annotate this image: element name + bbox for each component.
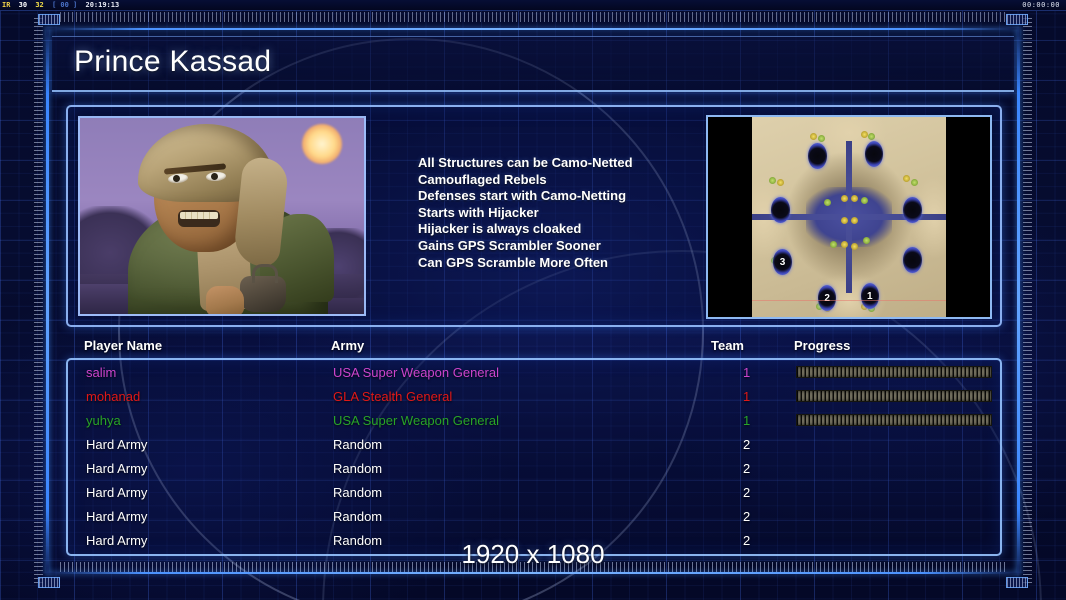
top-status-bar: IR 30 32 [ 00 ] 20:19:13 00:00:00	[0, 0, 1066, 11]
hand	[206, 286, 244, 316]
player-army: Random	[333, 509, 382, 524]
column-header-army: Army	[331, 338, 364, 353]
ability-item: Camouflaged Rebels	[418, 172, 718, 189]
ability-list: All Structures can be Camo-Netted Camouf…	[418, 155, 718, 271]
minimap-resource-icon	[851, 243, 858, 250]
minimap-start-position	[808, 143, 826, 169]
player-army: Random	[333, 437, 382, 452]
minimap-start-position	[903, 197, 921, 223]
minimap-resource-icon	[868, 133, 875, 140]
player-team: 1	[743, 365, 750, 380]
ability-item: Gains GPS Scrambler Sooner	[418, 238, 718, 255]
page-title: Prince Kassad	[74, 45, 271, 79]
pupil-left	[173, 175, 180, 182]
ability-item: Can GPS Scramble More Often	[418, 255, 718, 272]
loading-screen: IR 30 32 [ 00 ] 20:19:13 00:00:00 Prince…	[0, 0, 1066, 600]
minimap-resource-icon	[863, 237, 870, 244]
minimap-resource-icon	[769, 177, 776, 184]
player-list-header: Player Name Army Team Progress	[66, 338, 1002, 358]
status-number-1: 30	[17, 0, 29, 11]
minimap-start-position-3: 3	[773, 249, 791, 275]
minimap-resource-icon	[818, 135, 825, 142]
column-header-player-name: Player Name	[84, 338, 162, 353]
ruler-right	[1023, 18, 1032, 584]
minimap-start-position	[903, 247, 921, 273]
player-row[interactable]: Hard ArmyRandom2	[68, 480, 1000, 504]
player-name: yuhya	[86, 413, 121, 428]
status-bracket: [ 00 ]	[50, 0, 79, 11]
player-team: 2	[743, 485, 750, 500]
ruler-top	[60, 12, 1006, 22]
corner-marker-top-right	[1006, 14, 1028, 25]
player-row[interactable]: mohanadGLA Stealth General1	[68, 384, 1000, 408]
player-progress-fill	[796, 366, 992, 378]
status-tag: IR	[0, 0, 12, 11]
minimap-resource-icon	[851, 217, 858, 224]
elapsed-timer: 00:00:00	[1022, 0, 1060, 11]
status-clock: 20:19:13	[83, 0, 121, 11]
player-name: Hard Army	[86, 485, 147, 500]
player-row[interactable]: salimUSA Super Weapon General1	[68, 360, 1000, 384]
minimap-start-position	[865, 141, 883, 167]
player-row[interactable]: Hard ArmyRandom2	[68, 504, 1000, 528]
player-progress-fill	[796, 414, 992, 426]
player-progress	[796, 414, 992, 426]
ruler-left	[34, 18, 43, 584]
minimap-resource-icon	[830, 241, 837, 248]
ability-item: All Structures can be Camo-Netted	[418, 155, 718, 172]
minimap-letterbox-left	[708, 117, 752, 317]
column-header-team: Team	[711, 338, 744, 353]
player-army: USA Super Weapon General	[333, 365, 499, 380]
corner-marker-top-left	[38, 14, 60, 25]
frame-rail-right	[1017, 28, 1020, 574]
minimap-resource-icon	[810, 133, 817, 140]
minimap-start-position	[771, 197, 789, 223]
player-team: 2	[743, 437, 750, 452]
general-portrait	[78, 116, 366, 316]
minimap-resource-icon	[903, 175, 910, 182]
minimap-start-position-2: 2	[818, 285, 836, 311]
minimap-resource-icon	[824, 199, 831, 206]
player-progress-fill	[796, 390, 992, 402]
minimap-resource-icon	[911, 179, 918, 186]
frame-rail-top	[46, 28, 1020, 30]
frame-rail-bottom	[46, 572, 1020, 574]
minimap-resource-icon	[861, 197, 868, 204]
player-row[interactable]: yuhyaUSA Super Weapon General1	[68, 408, 1000, 432]
teeth	[180, 212, 218, 219]
corner-marker-bottom-left	[38, 577, 60, 588]
player-list: salimUSA Super Weapon General1mohanadGLA…	[66, 358, 1002, 556]
player-army: GLA Stealth General	[333, 389, 452, 404]
player-team: 2	[743, 509, 750, 524]
minimap-resource-icon	[851, 195, 858, 202]
minimap-resource-icon	[861, 131, 868, 138]
status-number-2: 32	[33, 0, 45, 11]
sun-icon	[302, 124, 342, 164]
minimap-start-position-1: 1	[861, 283, 879, 309]
minimap-scanline	[752, 300, 946, 301]
minimap-letterbox-right	[946, 117, 990, 317]
player-team: 1	[743, 413, 750, 428]
ability-item: Hijacker is always cloaked	[418, 221, 718, 238]
ability-item: Starts with Hijacker	[418, 205, 718, 222]
player-army: USA Super Weapon General	[333, 413, 499, 428]
player-name: salim	[86, 365, 116, 380]
mouth	[178, 210, 220, 227]
ability-item: Defenses start with Camo-Netting	[418, 188, 718, 205]
corner-marker-bottom-right	[1006, 577, 1028, 588]
player-row[interactable]: Hard ArmyRandom2	[68, 432, 1000, 456]
player-army: Random	[333, 461, 382, 476]
minimap: 321	[706, 115, 992, 319]
player-progress	[796, 390, 992, 402]
column-header-progress: Progress	[794, 338, 850, 353]
teapot	[240, 276, 286, 312]
player-name: mohanad	[86, 389, 140, 404]
player-row[interactable]: Hard ArmyRandom2	[68, 456, 1000, 480]
minimap-resource-icon	[777, 179, 784, 186]
pupil-right	[211, 173, 218, 180]
title-panel: Prince Kassad	[52, 36, 1014, 92]
player-name: Hard Army	[86, 437, 147, 452]
player-team: 2	[743, 461, 750, 476]
player-name: Hard Army	[86, 509, 147, 524]
frame-rail-left	[46, 28, 49, 574]
minimap-terrain: 321	[752, 117, 946, 317]
player-army: Random	[333, 485, 382, 500]
resolution-label: 1920 x 1080	[0, 539, 1066, 570]
player-team: 1	[743, 389, 750, 404]
player-progress	[796, 366, 992, 378]
player-name: Hard Army	[86, 461, 147, 476]
general-info-panel: All Structures can be Camo-Netted Camouf…	[66, 105, 1002, 327]
